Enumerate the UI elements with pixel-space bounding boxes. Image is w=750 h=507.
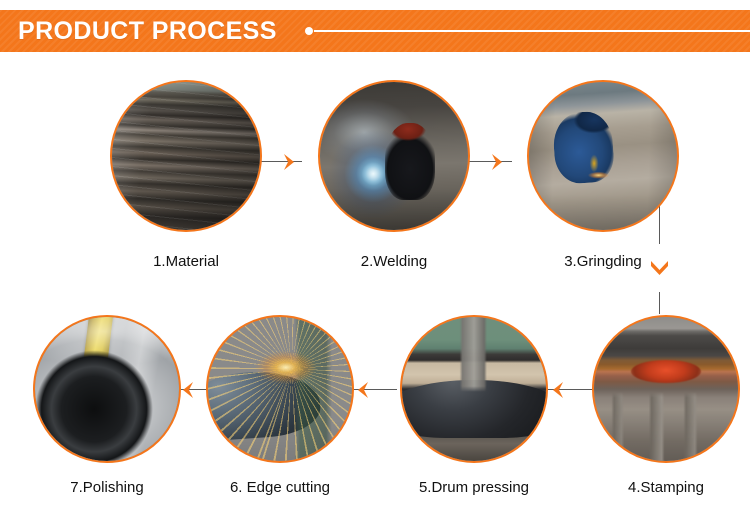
process-step-label-4: 4.Stamping [592, 479, 740, 496]
edge-cutting-sparks-photo [208, 317, 352, 461]
chevron-right-icon-1 [281, 152, 299, 172]
process-step-label-5: 5.Drum pressing [400, 479, 548, 496]
worker-grinding-photo [529, 82, 677, 230]
stamping-die-photo [594, 317, 738, 461]
process-step-label-1: 1.Material [110, 253, 262, 270]
page-title: PRODUCT PROCESS [18, 17, 277, 46]
chevron-right-icon-2 [489, 152, 507, 172]
process-step-image-edge-cutting[interactable] [206, 315, 354, 463]
polishing-stainless-photo [35, 317, 179, 461]
bullet-dot-icon [305, 27, 313, 35]
drum-pressing-photo [402, 317, 546, 461]
chevron-left-icon-2 [353, 380, 371, 400]
page-header-banner: PRODUCT PROCESS [0, 10, 750, 52]
process-step-image-drum-pressing[interactable] [400, 315, 548, 463]
process-step-image-welding[interactable] [318, 80, 470, 232]
process-step-label-7: 7.Polishing [33, 479, 181, 496]
process-step-label-3: 3.Gringding [527, 253, 679, 270]
worker-arc-welding-photo [320, 82, 468, 230]
process-step-label-2: 2.Welding [318, 253, 470, 270]
stacked-steel-plates-photo [112, 82, 260, 230]
process-step-label-6: 6. Edge cutting [206, 479, 354, 496]
process-step-image-grinding[interactable] [527, 80, 679, 232]
process-step-image-stamping[interactable] [592, 315, 740, 463]
process-step-image-material[interactable] [110, 80, 262, 232]
process-step-image-polishing[interactable] [33, 315, 181, 463]
header-divider-rule [314, 30, 750, 32]
chevron-left-icon-1 [548, 380, 566, 400]
connector-line-into-step-4 [659, 292, 660, 314]
